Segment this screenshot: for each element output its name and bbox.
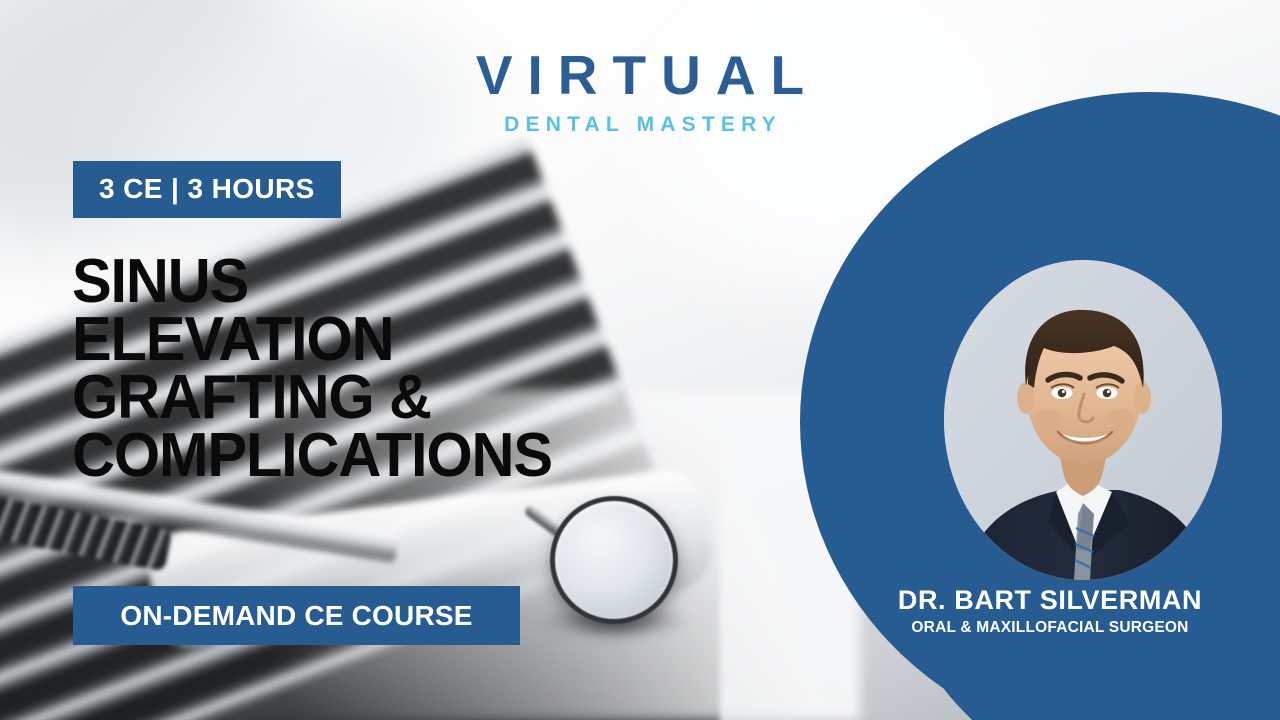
speaker-avatar <box>944 260 1222 580</box>
on-demand-course-banner[interactable]: ON-DEMAND CE COURSE <box>73 586 520 645</box>
course-title-line-1: SINUS <box>72 253 552 311</box>
speaker-name: DR. BART SILVERMAN <box>820 586 1280 615</box>
speaker-role: ORAL & MAXILLOFACIAL SURGEON <box>820 619 1280 637</box>
course-title: SINUS ELEVATION GRAFTING & COMPLICATIONS <box>72 253 552 485</box>
ce-credits-badge: 3 CE | 3 HOURS <box>73 161 341 218</box>
course-title-line-4: COMPLICATIONS <box>72 427 552 485</box>
course-title-line-3: GRAFTING & <box>72 369 552 427</box>
speaker-caption: DR. BART SILVERMAN ORAL & MAXILLOFACIAL … <box>820 586 1280 637</box>
on-demand-course-label: ON-DEMAND CE COURSE <box>120 602 472 630</box>
course-title-line-2: ELEVATION <box>72 311 552 369</box>
dental-mirror-icon <box>550 496 678 624</box>
course-promo-card: DR. BART SILVERMAN ORAL & MAXILLOFACIAL … <box>0 0 1280 720</box>
portrait-photo <box>944 260 1222 580</box>
